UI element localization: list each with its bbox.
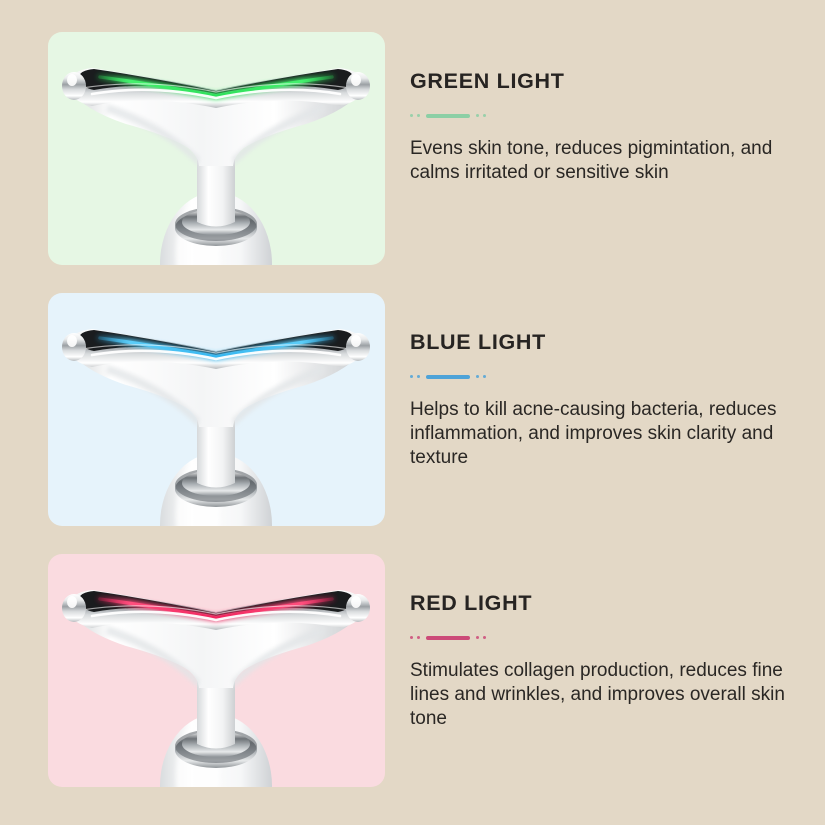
divider-dot <box>417 114 420 117</box>
neck-and-face-led-device-icon <box>48 554 385 787</box>
feature-description-red: Stimulates collagen production, reduces … <box>410 659 795 732</box>
feature-row-red: RED LIGHT Stimulates collagen production… <box>0 554 825 787</box>
divider-dot <box>476 375 479 378</box>
feature-row-blue: BLUE LIGHT Helps to kill acne-causing ba… <box>0 293 825 526</box>
feature-heading-green: GREEN LIGHT <box>410 70 805 94</box>
feature-heading-blue: BLUE LIGHT <box>410 331 805 355</box>
feature-row-green: GREEN LIGHT Evens skin tone, reduces pig… <box>0 32 825 265</box>
divider-dot <box>410 114 413 117</box>
divider-dot <box>410 636 413 639</box>
dotted-divider-icon-blue <box>410 372 805 382</box>
feature-text-red: RED LIGHT Stimulates collagen production… <box>410 554 805 732</box>
product-image-card-green <box>48 32 385 265</box>
divider-dot <box>483 375 486 378</box>
dotted-divider-icon-green <box>410 111 805 121</box>
feature-text-green: GREEN LIGHT Evens skin tone, reduces pig… <box>410 32 805 185</box>
product-image-card-blue <box>48 293 385 526</box>
feature-text-blue: BLUE LIGHT Helps to kill acne-causing ba… <box>410 293 805 471</box>
light-therapy-infographic: GREEN LIGHT Evens skin tone, reduces pig… <box>0 0 825 825</box>
divider-dot <box>476 636 479 639</box>
divider-bar <box>426 114 470 118</box>
neck-and-face-led-device-icon <box>48 293 385 526</box>
divider-bar <box>426 636 470 640</box>
dotted-divider-icon-red <box>410 633 805 643</box>
feature-heading-red: RED LIGHT <box>410 592 805 616</box>
neck-and-face-led-device-icon <box>48 32 385 265</box>
divider-dot <box>483 636 486 639</box>
feature-description-green: Evens skin tone, reduces pigmintation, a… <box>410 137 795 186</box>
divider-dot <box>417 636 420 639</box>
divider-dot <box>483 114 486 117</box>
divider-dot <box>410 375 413 378</box>
divider-dot <box>417 375 420 378</box>
product-image-card-red <box>48 554 385 787</box>
divider-dot <box>476 114 479 117</box>
divider-bar <box>426 375 470 379</box>
feature-description-blue: Helps to kill acne-causing bacteria, red… <box>410 398 795 471</box>
